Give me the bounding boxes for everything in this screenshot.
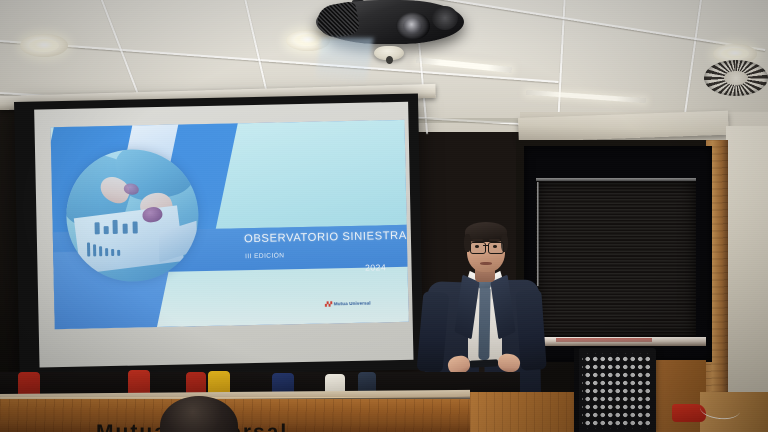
slide-subtitle: III EDICIÓN	[245, 253, 284, 261]
eye-left	[475, 245, 479, 248]
slide-year: 2024	[365, 263, 386, 273]
downlight-icon	[20, 34, 68, 57]
presentation-clicker[interactable]	[470, 359, 498, 367]
projection-screen-surface: OBSERVATORIO SINIESTRALIDAD III EDICIÓN …	[34, 102, 413, 368]
presenter-person	[418, 218, 568, 398]
slide-logo: ▞▞ Mutua Universal	[325, 300, 371, 307]
mouth	[480, 262, 492, 265]
presentation-room-photo: OBSERVATORIO SINIESTRALIDAD III EDICIÓN …	[0, 0, 768, 432]
eyeglasses-left-lens	[470, 242, 486, 254]
projector-lens-icon	[396, 12, 430, 40]
slide-circular-photo	[65, 148, 200, 283]
blind-headrail	[536, 178, 696, 181]
eyeglasses-bridge	[483, 245, 489, 246]
projector-beam	[315, 38, 374, 82]
eyeglasses-right-lens	[488, 242, 504, 254]
sill-red-strip	[556, 338, 652, 342]
smoke-detector-icon	[374, 46, 404, 60]
projection-screen-frame: OBSERVATORIO SINIESTRALIDAD III EDICIÓN …	[14, 94, 424, 378]
chair-frame-edge	[574, 348, 579, 432]
eyebrow-right	[489, 239, 500, 241]
air-vent-icon	[704, 60, 768, 96]
ceiling-grid-line	[99, 0, 143, 106]
chair-back[interactable]	[578, 348, 656, 432]
ceiling-grid-line	[0, 40, 559, 83]
necktie	[478, 288, 490, 360]
logo-mark-icon: ▞▞	[325, 301, 332, 306]
wall-far-right	[726, 126, 768, 416]
eye-right	[493, 245, 497, 248]
suit-sleeve-right	[515, 289, 547, 371]
podium-branding-text: Mutua Universal	[96, 421, 426, 432]
podium-right	[470, 392, 590, 432]
linear-ceiling-light	[526, 90, 646, 103]
presentation-slide: OBSERVATORIO SINIESTRALIDAD III EDICIÓN …	[51, 120, 409, 329]
logo-text: Mutua Universal	[334, 300, 371, 306]
linear-ceiling-light	[416, 57, 512, 73]
eyebrow-left	[472, 239, 483, 241]
